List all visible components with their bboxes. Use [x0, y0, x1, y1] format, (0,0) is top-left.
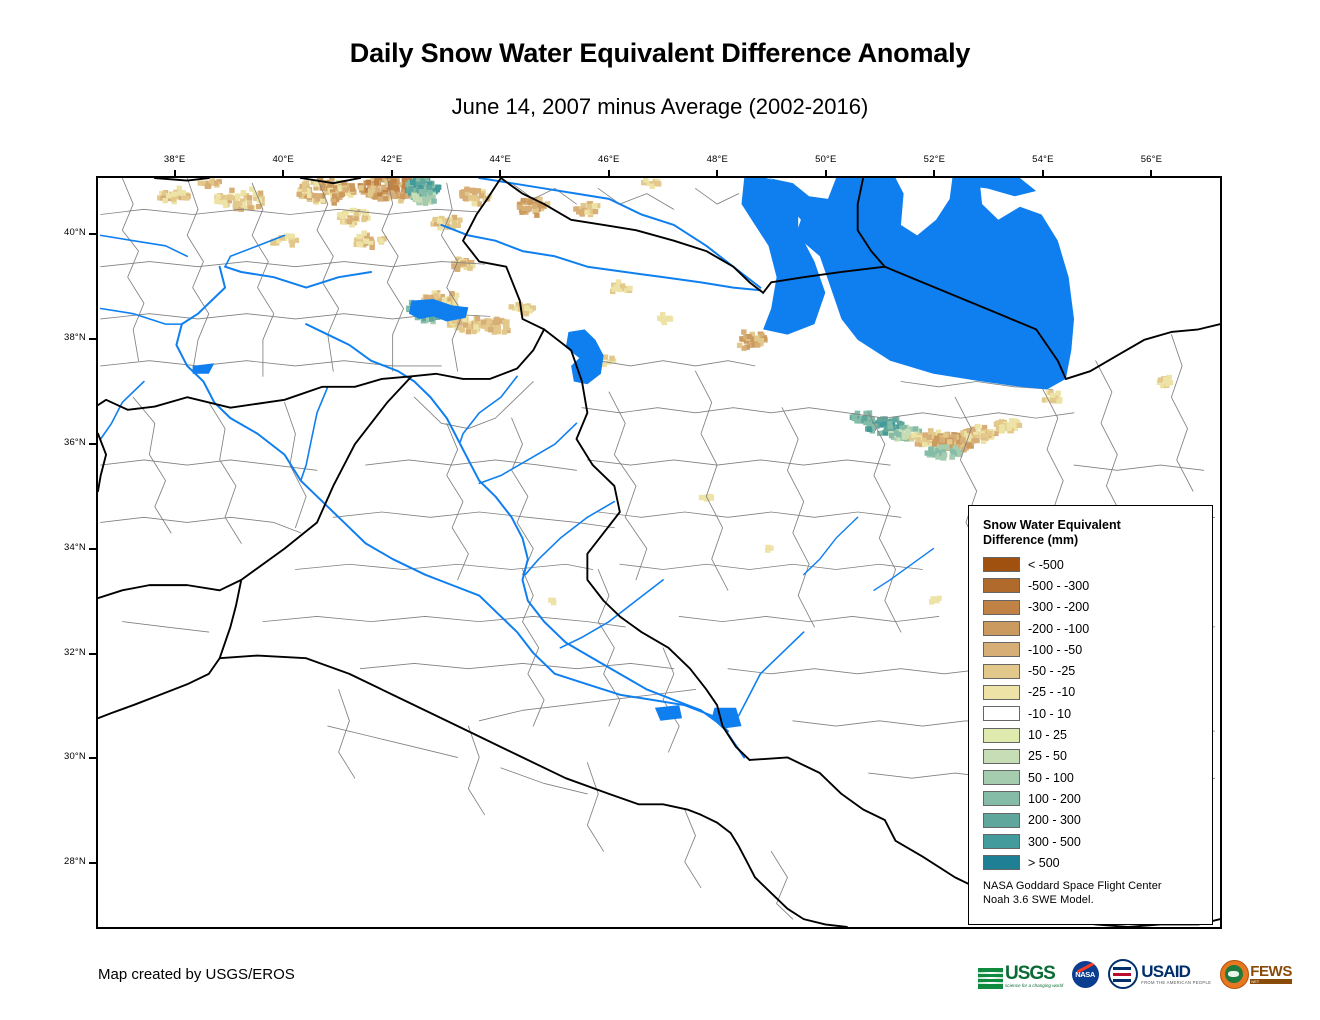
admin-boundary-26: [663, 648, 679, 752]
legend-label: -100 - -50: [1028, 643, 1082, 657]
admin-boundary-38: [782, 408, 814, 627]
legend-row[interactable]: 300 - 500: [983, 831, 1202, 852]
usaid-wordmark: USAID: [1141, 963, 1211, 980]
anomaly-cell: [521, 198, 526, 203]
anomaly-cell: [643, 178, 648, 183]
anomaly-cell: [332, 193, 337, 198]
great-zab-river: [460, 376, 517, 441]
admin-boundary-59: [339, 689, 355, 778]
anomaly-cell: [472, 195, 477, 200]
anomaly-cell: [974, 438, 979, 443]
legend-label: < -500: [1028, 558, 1064, 572]
anomaly-cell: [258, 191, 263, 196]
admin-boundary-29: [587, 460, 890, 465]
anomaly-cell: [966, 443, 971, 448]
anomaly-cell: [947, 439, 952, 444]
anomaly-cell: [452, 215, 457, 220]
lon-tick-mark: [174, 170, 176, 177]
legend-label: 10 - 25: [1028, 728, 1067, 742]
anomaly-cell: [171, 197, 176, 202]
aras-river: [441, 225, 760, 290]
shatt-al-arab-marshes: [712, 708, 742, 729]
legend-swatch: [983, 642, 1020, 657]
anomaly-cell: [184, 195, 189, 200]
anomaly-cell: [928, 429, 933, 434]
anomaly-cell: [171, 192, 176, 197]
lat-tick-label: 32°N: [42, 647, 86, 658]
legend-swatch: [983, 706, 1020, 721]
anomaly-cell: [1056, 399, 1061, 404]
admin-boundary-6: [101, 209, 480, 214]
anomaly-cell: [481, 319, 486, 324]
usgs-waves-icon: [978, 968, 1003, 989]
lon-tick-label: 48°E: [694, 154, 740, 165]
anomaly-cell: [929, 451, 934, 456]
lat-tick-mark: [89, 443, 96, 445]
legend-swatch: [983, 685, 1020, 700]
iraq-syria-border: [98, 376, 412, 598]
anomaly-cell: [1055, 391, 1060, 396]
anomaly-cell: [356, 234, 361, 239]
turkey-border: [98, 178, 544, 410]
legend-row[interactable]: -200 - -100: [983, 618, 1202, 639]
khabur-river: [301, 387, 328, 481]
anomaly-cell: [408, 186, 413, 191]
anomaly-cell: [247, 195, 252, 200]
admin-boundary-4: [382, 178, 404, 371]
admin-boundary-28: [582, 408, 847, 413]
legend-swatch: [983, 791, 1020, 806]
mediterranean-coast: [98, 434, 106, 491]
lon-tick-label: 40°E: [260, 154, 306, 165]
anomaly-cell: [940, 437, 945, 442]
anomaly-cell: [237, 201, 242, 206]
nasa-logo: NASA: [1072, 961, 1099, 988]
anomaly-cell: [386, 178, 391, 179]
legend-row[interactable]: -25 - -10: [983, 682, 1202, 703]
admin-boundary-30: [598, 512, 901, 517]
anomaly-cell: [378, 238, 383, 243]
anomaly-cell: [709, 496, 714, 501]
anomaly-cell: [654, 181, 659, 186]
euphrates-river: [176, 267, 728, 732]
admin-boundary-25: [598, 570, 620, 727]
anomaly-cell: [1165, 381, 1170, 386]
lat-tick-mark: [89, 862, 96, 864]
admin-boundary-12: [285, 402, 307, 527]
admin-boundary-46: [1074, 465, 1204, 470]
anomaly-cell: [915, 437, 920, 442]
orontes-river: [101, 382, 144, 439]
anomaly-cell: [759, 338, 764, 343]
lon-tick-label: 54°E: [1020, 154, 1066, 165]
lat-tick-label: 38°N: [42, 332, 86, 343]
anomaly-cell: [166, 193, 171, 198]
legend-row[interactable]: -500 - -300: [983, 575, 1202, 596]
anomaly-cell: [364, 239, 369, 244]
legend-swatch: [983, 749, 1020, 764]
lon-tick-label: 56°E: [1128, 154, 1174, 165]
usaid-seal-icon: [1108, 959, 1138, 989]
admin-boundary-22: [360, 663, 674, 668]
usaid-tagline: FROM THE AMERICAN PEOPLE: [1141, 980, 1211, 985]
lat-tick-mark: [89, 653, 96, 655]
anomaly-cell: [699, 495, 704, 500]
anomaly-cell: [471, 329, 476, 334]
legend-swatch: [983, 600, 1020, 615]
legend-label: -50 - -25: [1028, 664, 1075, 678]
anomaly-cell: [981, 433, 986, 438]
anomaly-cell: [746, 334, 751, 339]
anomaly-cell: [613, 284, 618, 289]
usgs-logo: USGS science for a changing world: [978, 959, 1063, 989]
admin-boundary-13: [101, 460, 317, 470]
anomaly-cell: [472, 201, 477, 206]
anomaly-cell: [1050, 393, 1055, 398]
murat-river: [225, 267, 371, 288]
admin-boundary-1: [187, 178, 209, 371]
anomaly-cell: [427, 190, 432, 195]
anomaly-cell: [223, 203, 228, 208]
anomaly-cell: [999, 428, 1004, 433]
admin-boundary-16: [447, 423, 469, 580]
anomaly-cell: [347, 219, 352, 224]
legend-swatch: [983, 557, 1020, 572]
kizilirmak-fragment: [101, 235, 187, 256]
anomaly-cell: [431, 198, 436, 203]
qomrud-river: [804, 517, 858, 574]
anomaly-cell: [353, 216, 358, 221]
legend-label: 100 - 200: [1028, 792, 1081, 806]
legend-title-line1: Snow Water Equivalent: [983, 518, 1202, 533]
anomaly-cell: [455, 223, 460, 228]
anomaly-cell: [366, 180, 371, 185]
legend-label: 300 - 500: [1028, 835, 1081, 849]
admin-boundary-15: [414, 382, 533, 429]
legend-row[interactable]: < -500: [983, 554, 1202, 575]
anomaly-cell: [1006, 426, 1011, 431]
anomaly-cell: [737, 343, 742, 348]
anomaly-cell: [377, 178, 382, 180]
lon-tick-mark: [716, 170, 718, 177]
legend-source-line1: NASA Goddard Space Flight Center: [983, 880, 1202, 894]
anomaly-cell: [420, 179, 425, 184]
anomaly-cell: [496, 325, 501, 330]
anomaly-cell: [994, 422, 999, 427]
anomaly-cell: [1017, 423, 1022, 428]
admin-boundary-7: [101, 262, 485, 267]
anomaly-cell: [892, 417, 897, 422]
admin-boundary-9: [101, 361, 442, 366]
lon-tick-mark: [933, 170, 935, 177]
fews-net-logo: FEWS NET: [1220, 960, 1292, 989]
anomaly-cell: [317, 193, 322, 198]
anomaly-cell: [424, 295, 429, 300]
lat-tick-label: 30°N: [42, 751, 86, 762]
lon-tick-label: 42°E: [369, 154, 415, 165]
anomaly-cell: [517, 205, 522, 210]
anomaly-cell: [329, 178, 334, 182]
anomaly-cell: [576, 209, 581, 214]
legend-row[interactable]: 50 - 100: [983, 767, 1202, 788]
anomaly-cell: [215, 194, 220, 199]
legend-swatch: [983, 813, 1020, 828]
legend-label: 50 - 100: [1028, 771, 1074, 785]
anomaly-cell: [609, 356, 614, 361]
legend-row[interactable]: 200 - 300: [983, 810, 1202, 831]
fews-wordmark: FEWS: [1250, 964, 1292, 979]
fews-net-tagline: NET: [1250, 979, 1292, 984]
lon-tick-mark: [391, 170, 393, 177]
anomaly-cell: [460, 193, 465, 198]
lat-tick-mark: [89, 338, 96, 340]
admin-boundary-17: [512, 418, 534, 575]
anomaly-cell: [657, 316, 662, 321]
legend-row[interactable]: 25 - 50: [983, 746, 1202, 767]
legend-panel[interactable]: Snow Water Equivalent Difference (mm) < …: [968, 505, 1213, 925]
legend-swatch: [983, 855, 1020, 870]
legend-source-line2: Noah 3.6 SWE Model.: [983, 894, 1202, 908]
legend-row[interactable]: 100 - 200: [983, 788, 1202, 809]
anomaly-cell: [650, 184, 655, 189]
anomaly-cell: [383, 196, 388, 201]
anomaly-cell: [391, 178, 396, 183]
admin-boundary-60: [468, 726, 484, 815]
anomaly-cell: [393, 185, 398, 190]
anomaly-cell: [929, 599, 934, 604]
anomaly-cell: [358, 185, 363, 190]
anomaly-cell: [862, 416, 867, 421]
map-credit: Map created by USGS/EROS: [98, 966, 295, 983]
legend-label: -25 - -10: [1028, 685, 1075, 699]
anomaly-cell: [206, 183, 211, 188]
legend-swatch: [983, 621, 1020, 636]
anomaly-cell: [882, 416, 887, 421]
admin-boundary-43: [847, 413, 1074, 418]
legend-label: -10 - 10: [1028, 707, 1071, 721]
page-title: Daily Snow Water Equivalent Difference A…: [0, 38, 1320, 69]
anomaly-cell: [241, 190, 246, 195]
legend-swatch: [983, 834, 1020, 849]
anomaly-cell: [181, 190, 186, 195]
little-zab-river: [479, 423, 576, 483]
lat-tick-mark: [89, 548, 96, 550]
anomaly-cell: [476, 188, 481, 193]
lat-tick-label: 28°N: [42, 856, 86, 867]
anomaly-cell: [587, 204, 592, 209]
anomaly-cell: [296, 192, 301, 197]
lon-tick-label: 52°E: [911, 154, 957, 165]
admin-boundary-31: [620, 564, 923, 569]
admin-boundary-57: [328, 726, 458, 757]
anomaly-cell: [302, 187, 307, 192]
lon-tick-label: 38°E: [152, 154, 198, 165]
anomaly-cell: [374, 180, 379, 185]
anomaly-cell: [361, 231, 366, 236]
anomaly-cell: [426, 185, 431, 190]
legend-row[interactable]: -10 - 10: [983, 703, 1202, 724]
admin-boundary-21: [263, 616, 625, 626]
anomaly-cell: [532, 204, 537, 209]
admin-boundary-10: [133, 397, 171, 533]
legend-label: -300 - -200: [1028, 600, 1089, 614]
anomaly-cell: [943, 433, 948, 438]
admin-boundary-44: [1096, 361, 1123, 518]
anomaly-cell: [944, 444, 949, 449]
admin-boundary-37: [695, 371, 727, 590]
admin-boundary-11: [209, 402, 241, 543]
anomaly-cell: [381, 185, 386, 190]
anomaly-cell: [584, 210, 589, 215]
anomaly-cell: [437, 218, 442, 223]
legend-row[interactable]: -300 - -200: [983, 597, 1202, 618]
anomaly-cell: [975, 424, 980, 429]
usgs-wordmark: USGS: [1005, 964, 1063, 983]
anomaly-cell: [464, 187, 469, 192]
anomaly-cell: [289, 234, 294, 239]
lon-tick-label: 46°E: [586, 154, 632, 165]
anomaly-cell: [463, 322, 468, 327]
anomaly-cell: [504, 325, 509, 330]
admin-boundary-20: [295, 564, 592, 569]
anomaly-cell: [377, 196, 382, 201]
admin-boundary-0: [122, 178, 144, 361]
lon-tick-mark: [1042, 170, 1044, 177]
anomaly-cell: [375, 187, 380, 192]
anomaly-cell: [593, 209, 598, 214]
legend-row[interactable]: -50 - -25: [983, 660, 1202, 681]
anomaly-cell: [867, 427, 872, 432]
anomaly-cell: [942, 452, 947, 457]
anomaly-cell: [466, 329, 471, 334]
admin-boundary-33: [728, 669, 988, 674]
lon-tick-label: 50°E: [803, 154, 849, 165]
lon-tick-mark: [1150, 170, 1152, 177]
anomaly-cell: [424, 197, 429, 202]
anomaly-cell: [534, 213, 539, 218]
admin-boundary-56: [122, 622, 208, 632]
anomaly-cell: [1050, 398, 1055, 403]
anomaly-cell: [473, 324, 478, 329]
anomaly-cell: [368, 191, 373, 196]
lake-urmia: [566, 329, 604, 384]
anomaly-cell: [434, 293, 439, 298]
admin-boundary-14: [101, 517, 301, 533]
anomaly-cell: [923, 432, 928, 437]
anomaly-cell: [402, 178, 407, 182]
page-subtitle: June 14, 2007 minus Average (2002-2016): [0, 94, 1320, 120]
anomaly-cell: [343, 187, 348, 192]
anomaly-cell: [198, 180, 203, 185]
anomaly-cell: [502, 320, 507, 325]
anomaly-cell: [939, 444, 944, 449]
anomaly-cell: [422, 192, 427, 197]
anomaly-cell: [524, 305, 529, 310]
anomaly-cell: [214, 199, 219, 204]
kerkha-river: [560, 580, 663, 648]
anomaly-cell: [887, 424, 892, 429]
lon-tick-label: 44°E: [477, 154, 523, 165]
lat-tick-mark: [89, 757, 96, 759]
zayandeh-river: [874, 549, 933, 591]
anomaly-cell: [936, 596, 941, 601]
anomaly-cell: [987, 431, 992, 436]
legend-row[interactable]: > 500: [983, 852, 1202, 873]
anomaly-cell: [400, 194, 405, 199]
anomaly-cell: [616, 279, 621, 284]
admin-boundary-62: [685, 810, 701, 888]
legend-title-line2: Difference (mm): [983, 533, 1202, 548]
anomaly-cell: [235, 194, 240, 199]
admin-boundary-39: [869, 413, 901, 632]
anomaly-cell: [356, 241, 361, 246]
anomaly-cell: [548, 598, 553, 603]
admin-boundary-5: [441, 183, 463, 371]
anomaly-cell: [627, 286, 632, 291]
anomaly-cell: [338, 192, 343, 197]
gulf-arabian-coast: [701, 815, 847, 927]
legend-swatch: [983, 578, 1020, 593]
black-sea-coast-fragment-a: [155, 178, 209, 181]
anomaly-cell: [913, 426, 918, 431]
legend-swatch: [983, 664, 1020, 679]
anomaly-cell: [467, 266, 472, 271]
anomaly-cell: [248, 205, 253, 210]
legend-swatch: [983, 728, 1020, 743]
anomaly-cell: [488, 327, 493, 332]
anomaly-cell: [960, 438, 965, 443]
anomaly-cell: [509, 304, 514, 309]
anomaly-cell: [741, 329, 746, 334]
legend-label: 25 - 50: [1028, 749, 1067, 763]
admin-boundary-61: [587, 763, 603, 852]
admin-boundary-3: [317, 178, 339, 371]
nasa-wordmark: NASA: [1075, 970, 1095, 979]
anomaly-cell: [312, 193, 317, 198]
usaid-logo: USAID FROM THE AMERICAN PEOPLE: [1108, 959, 1211, 989]
anomaly-cell: [413, 195, 418, 200]
iran-turkmenistan-border: [1066, 324, 1220, 379]
logo-strip: USGS science for a changing world NASA U…: [978, 957, 1292, 991]
anomaly-cell: [339, 213, 344, 218]
iraq-jordan-saudi-border: [98, 580, 241, 718]
lat-tick-label: 36°N: [42, 437, 86, 448]
legend-title: Snow Water Equivalent Difference (mm): [983, 518, 1202, 548]
legend-label: 200 - 300: [1028, 813, 1081, 827]
anomaly-cell: [1158, 377, 1163, 382]
legend-class-list: < -500-500 - -300-300 - -200-200 - -100-…: [983, 554, 1202, 873]
anomaly-cell: [527, 199, 532, 204]
lat-tick-mark: [89, 233, 96, 235]
legend-row[interactable]: 10 - 25: [983, 724, 1202, 745]
anomaly-cell: [949, 455, 954, 460]
anomaly-cell: [766, 545, 771, 550]
legend-swatch: [983, 770, 1020, 785]
legend-source: NASA Goddard Space Flight Center Noah 3.…: [983, 880, 1202, 907]
anomaly-cell: [429, 316, 434, 321]
anomaly-cell: [470, 188, 475, 193]
anomaly-cell: [162, 198, 167, 203]
admin-boundary-55: [695, 188, 738, 204]
lat-tick-label: 40°N: [42, 227, 86, 238]
anomaly-cell: [475, 316, 480, 321]
anomaly-cell: [592, 203, 597, 208]
anomaly-cell: [479, 193, 484, 198]
legend-label: -200 - -100: [1028, 622, 1089, 636]
legend-label: > 500: [1028, 856, 1060, 870]
legend-row[interactable]: -100 - -50: [983, 639, 1202, 660]
admin-boundary-19: [333, 512, 614, 528]
